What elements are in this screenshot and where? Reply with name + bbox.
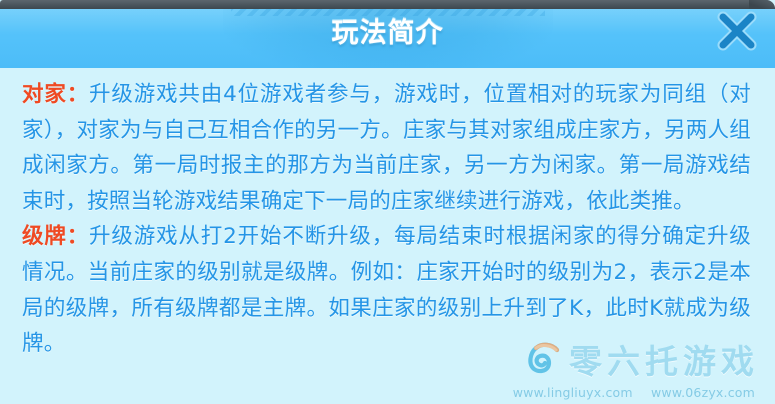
paragraph-duijia: 对家：升级游戏共由4位游戏者参与，游戏时，位置相对的玩家为同组（对家），对家为与…: [0, 77, 775, 219]
close-button[interactable]: [711, 5, 763, 57]
dialog-body: 对家：升级游戏共由4位游戏者参与，游戏时，位置相对的玩家为同组（对家），对家为与…: [0, 68, 775, 404]
term-label-jipai: 级牌：: [22, 224, 89, 249]
paragraph-jipai: 级牌：升级游戏从打2开始不断升级，每局结束时根据闲家的得分确定升级情况。当前庄家…: [0, 219, 775, 361]
page-title: 玩法简介: [0, 11, 775, 50]
gameplay-intro-dialog: 玩法简介 对家：升级游戏共由4位游戏者参与，游戏时，位置相对的玩家为同组（对家）…: [0, 0, 775, 404]
paragraph-text-jipai: 升级游戏从打2开始不断升级，每局结束时根据闲家的得分确定升级情况。当前庄家的级别…: [22, 224, 751, 356]
paragraph-text-duijia: 升级游戏共由4位游戏者参与，游戏时，位置相对的玩家为同组（对家），对家为与自己互…: [22, 82, 751, 214]
term-label-duijia: 对家：: [22, 82, 89, 107]
window-top-chrome: [0, 0, 775, 9]
close-icon: [714, 8, 760, 54]
